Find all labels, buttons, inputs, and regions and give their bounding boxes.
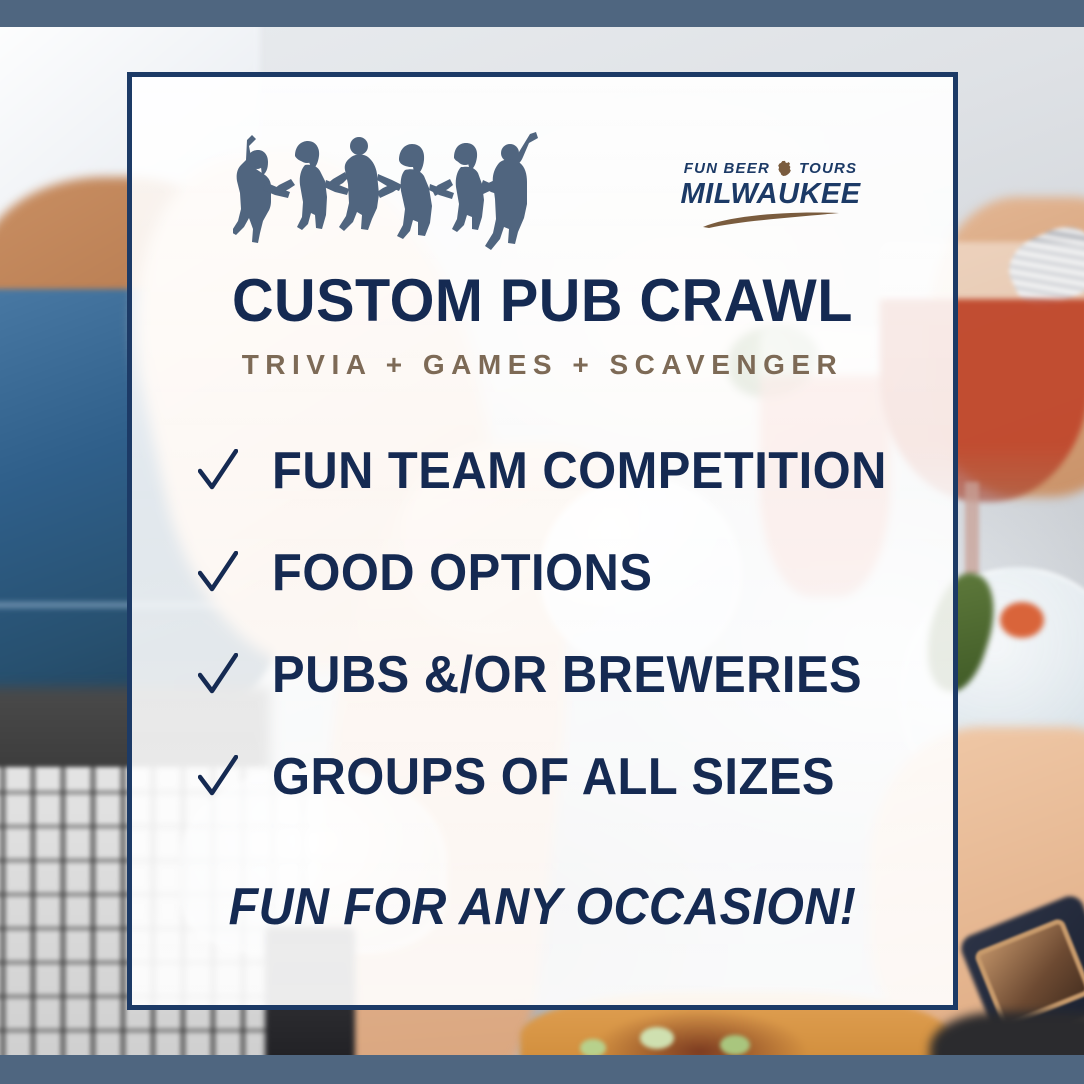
logo-row: FUN BEER TOURS MILWAUKEE [223, 132, 863, 252]
headline-subtitle: TRIVIA + GAMES + SCAVENGER [242, 349, 844, 381]
page-title: CUSTOM PUB CRAWL [232, 266, 853, 335]
feature-list: FUN TEAM COMPETITION FOOD OPTIONS PUBS &… [127, 441, 958, 807]
subtitle-separator: + [386, 349, 409, 380]
subtitle-separator: + [572, 349, 595, 380]
subtitle-part-games: GAMES [423, 349, 558, 380]
six-jumping-people-silhouette [233, 132, 543, 250]
brand-milwaukee: MILWAUKEE [681, 180, 861, 209]
photo-food-garnish [720, 1035, 750, 1055]
photo-food-garnish [640, 1027, 674, 1049]
feature-label: FOOD OPTIONS [272, 543, 652, 603]
brand-swoosh-icon [701, 211, 841, 229]
logo-block: FUN BEER TOURS MILWAUKEE CUSTOM PUB CRAW… [127, 132, 958, 381]
brand-top-line: FUN BEER TOURS [681, 160, 861, 177]
feature-label: GROUPS OF ALL SIZES [272, 747, 835, 807]
subtitle-part-scavenger: SCAVENGER [609, 349, 843, 380]
top-accent-bar [0, 0, 1084, 27]
feature-label: PUBS &/OR BREWERIES [272, 645, 862, 705]
poster-content: FUN BEER TOURS MILWAUKEE CUSTOM PUB CRAW… [127, 72, 958, 1010]
checkmark-icon [198, 551, 238, 595]
brandmark: FUN BEER TOURS MILWAUKEE [681, 160, 861, 233]
promo-poster: FUN BEER TOURS MILWAUKEE CUSTOM PUB CRAW… [0, 0, 1084, 1084]
list-item: FUN TEAM COMPETITION [198, 441, 888, 501]
photo-food-garnish [580, 1039, 606, 1055]
checkmark-icon [198, 449, 238, 493]
list-item: PUBS &/OR BREWERIES [198, 645, 888, 705]
checkmark-icon [198, 755, 238, 799]
bottom-accent-bar [0, 1055, 1084, 1084]
subtitle-part-trivia: TRIVIA [242, 349, 372, 380]
list-item: FOOD OPTIONS [198, 543, 888, 603]
tagline: FUN FOR ANY OCCASION! [229, 877, 857, 937]
photo-citrus-slice [1000, 602, 1044, 638]
checkmark-icon [198, 653, 238, 697]
brand-fun-beer: FUN BEER [684, 161, 770, 176]
brand-tours: TOURS [799, 161, 857, 176]
list-item: GROUPS OF ALL SIZES [198, 747, 888, 807]
wisconsin-state-icon [776, 160, 793, 177]
feature-label: FUN TEAM COMPETITION [272, 441, 887, 501]
photo-wine-stem [965, 482, 979, 577]
